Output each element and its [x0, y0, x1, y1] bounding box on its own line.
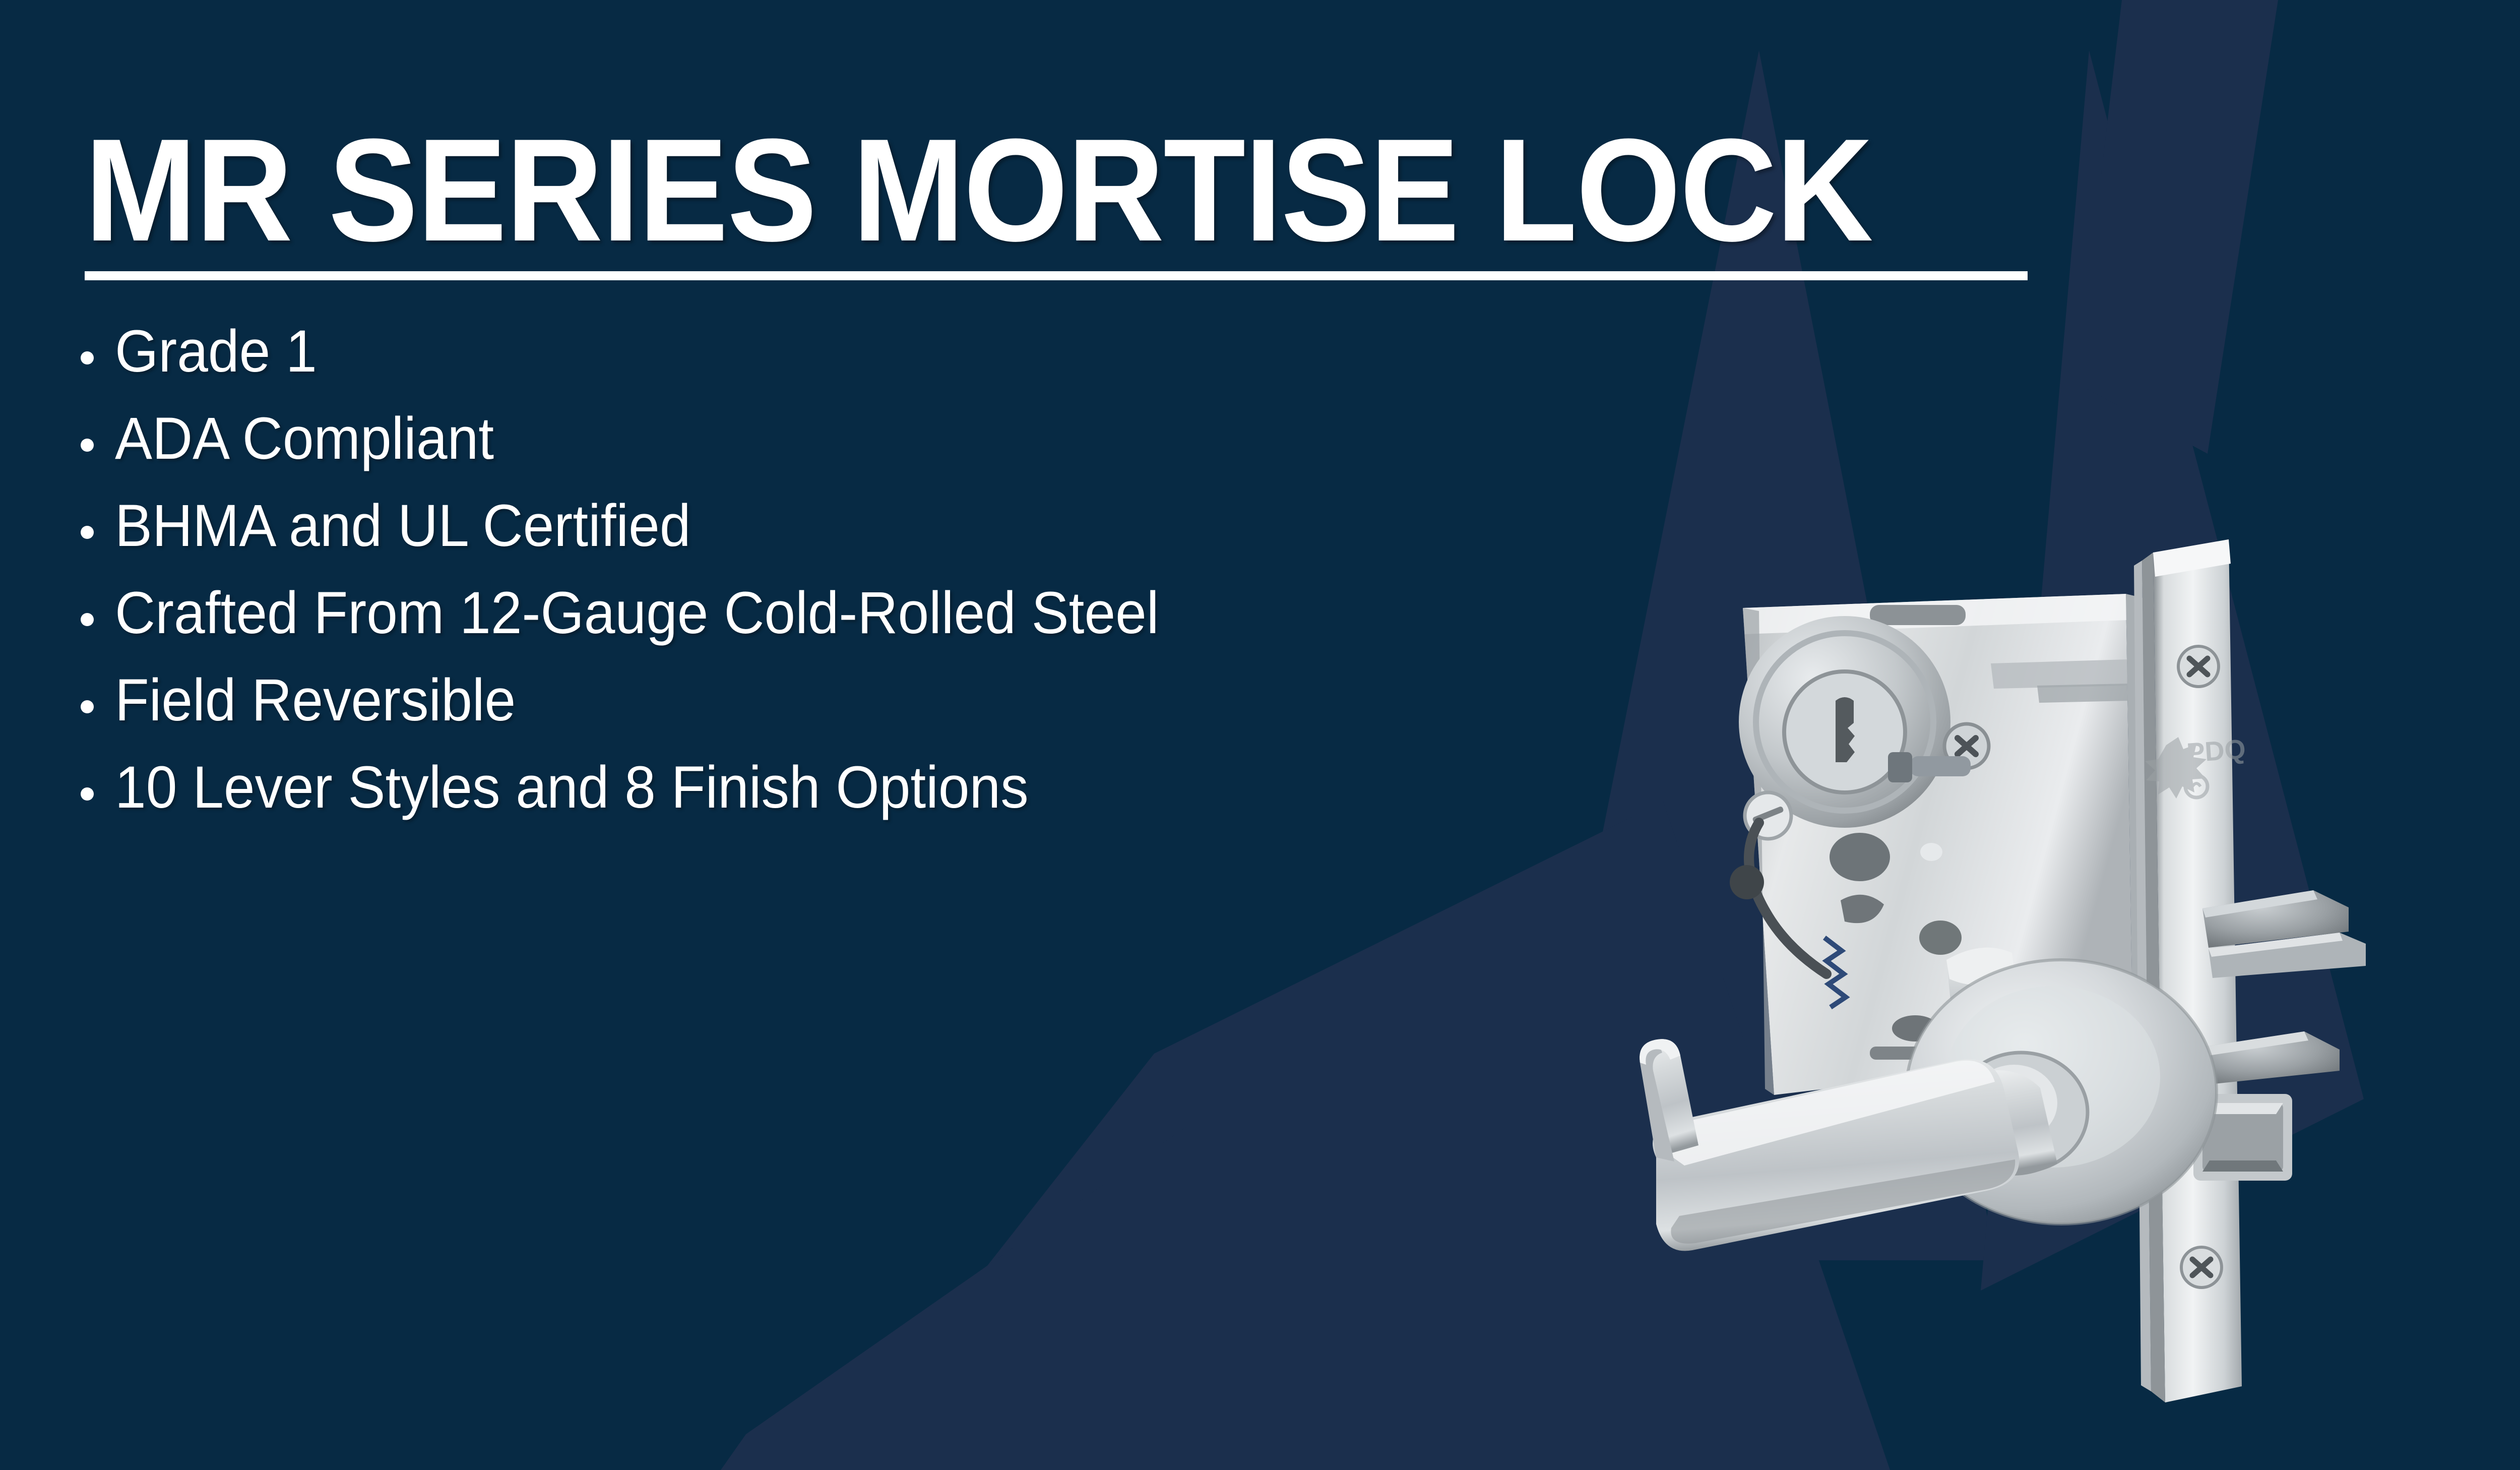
feature-label: Crafted From 12-Gauge Cold-Rolled Steel: [115, 583, 1159, 643]
faceplate-screw-bottom: [2181, 1247, 2222, 1288]
slide-content: MR SERIES MORTISE LOCK Grade 1 ADA Compl…: [0, 0, 2520, 1470]
bullet-dot-icon: [81, 351, 94, 364]
case-top-slot: [1870, 605, 1966, 625]
faceplate: PDQ: [2134, 539, 2366, 1402]
bullet-dot-icon: [81, 526, 94, 539]
svg-text:PDQ: PDQ: [2186, 734, 2247, 768]
feature-label: Grade 1: [115, 322, 317, 381]
page-title: MR SERIES MORTISE LOCK: [85, 121, 1872, 260]
feature-label: ADA Compliant: [115, 409, 494, 468]
threaded-post: [1910, 756, 1971, 776]
title-underline: [85, 271, 2028, 280]
bullet-dot-icon: [81, 439, 94, 452]
mortise-lock-photo: PDQ: [1608, 534, 2520, 1437]
bullet-dot-icon: [81, 700, 94, 713]
list-item: 10 Lever Styles and 8 Finish Options: [81, 758, 1226, 845]
case-hole: [1830, 833, 1890, 881]
feature-label: BHMA and UL Certified: [115, 496, 691, 556]
case-hole: [1919, 921, 1962, 955]
list-item: BHMA and UL Certified: [81, 496, 1226, 583]
headline-block: MR SERIES MORTISE LOCK: [85, 121, 2028, 280]
bullet-dot-icon: [81, 613, 94, 626]
feature-label: 10 Lever Styles and 8 Finish Options: [115, 758, 1029, 817]
feature-label: Field Reversible: [115, 670, 516, 730]
list-item: Grade 1: [81, 322, 1226, 409]
list-item: Field Reversible: [81, 670, 1226, 758]
case-hole: [1920, 843, 1942, 861]
feature-list: Grade 1 ADA Compliant BHMA and UL Certif…: [81, 322, 1226, 845]
list-item: Crafted From 12-Gauge Cold-Rolled Steel: [81, 583, 1226, 670]
faceplate-screw-top: [2178, 646, 2219, 687]
list-item: ADA Compliant: [81, 409, 1226, 496]
bullet-dot-icon: [81, 787, 94, 801]
